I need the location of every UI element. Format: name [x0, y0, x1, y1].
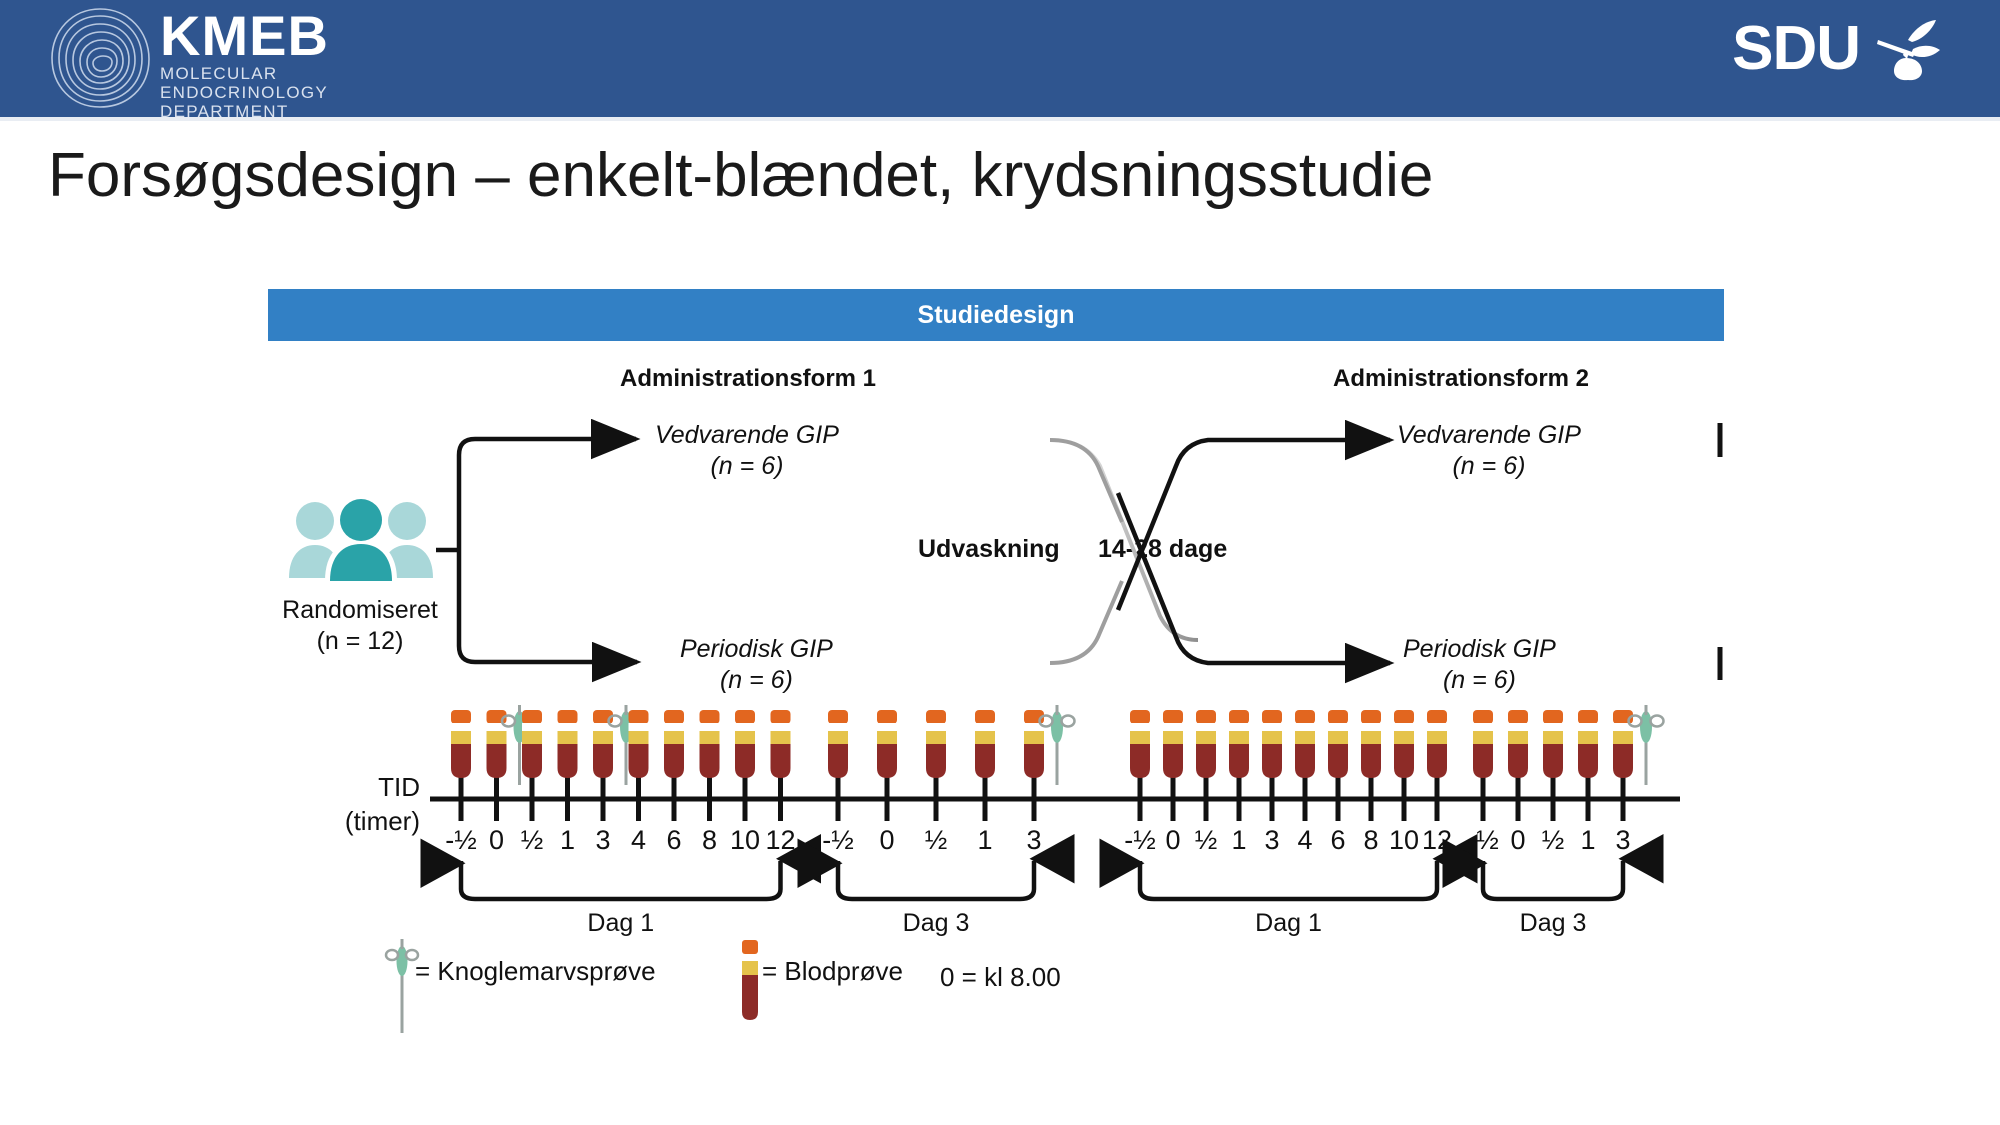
legend-zero-note: 0 = kl 8.00 — [940, 962, 1061, 993]
legend-marrow-icon — [386, 939, 418, 1033]
axis-tick-label: ½ — [925, 825, 948, 856]
blood-sample-icon — [1543, 710, 1563, 778]
bone-marrow-sample-icon — [1629, 705, 1664, 785]
axis-tick-label: 1 — [560, 825, 575, 856]
blood-sample-icon — [593, 710, 613, 778]
axis-tick-label: -½ — [822, 825, 854, 856]
blood-sample-icon — [1508, 710, 1528, 778]
blood-sample-icon — [828, 710, 848, 778]
header-underline — [0, 117, 2000, 121]
kmeb-title: KMEB — [160, 8, 329, 64]
page-title: Forsøgsdesign – enkelt-blændet, krydsnin… — [48, 140, 1433, 211]
sdu-apple-leaf-icon — [1868, 18, 1942, 82]
axis-tick-label: 3 — [1615, 825, 1630, 856]
blood-sample-icon — [1163, 710, 1183, 778]
blood-sample-icon — [1361, 710, 1381, 778]
axis-tick-label: ½ — [1195, 825, 1218, 856]
axis-tick-label: -½ — [445, 825, 477, 856]
day-label: Dag 1 — [1255, 909, 1322, 938]
day-bracket — [1140, 861, 1437, 899]
bone-marrow-sample-icon — [1040, 705, 1075, 785]
kmeb-subtitle-line2: ENDOCRINOLOGY — [160, 83, 329, 102]
day-label: Dag 3 — [1520, 909, 1587, 938]
axis-tick-label: 10 — [1389, 825, 1419, 856]
axis-tick-label: ½ — [1542, 825, 1565, 856]
day-bracket — [838, 861, 1034, 899]
blood-sample-icon — [1229, 710, 1249, 778]
axis-tick-label: ½ — [521, 825, 544, 856]
blood-sample-icon — [1295, 710, 1315, 778]
axis-tick-label: 0 — [1510, 825, 1525, 856]
blood-sample-icon — [1613, 710, 1633, 778]
sdu-wordmark: SDU — [1732, 18, 1860, 80]
blood-sample-icon — [629, 710, 649, 778]
blood-sample-icon — [664, 710, 684, 778]
day-brackets-layer — [461, 861, 1623, 899]
axis-tick-label: 8 — [1363, 825, 1378, 856]
legend-blood-label: = Blodprøve — [762, 956, 903, 987]
blood-sample-icon — [1328, 710, 1348, 778]
blood-sample-icon — [1473, 710, 1493, 778]
kmeb-logo-icon — [45, 6, 155, 110]
blood-sample-icon — [1130, 710, 1150, 778]
blood-sample-icon — [522, 710, 542, 778]
blood-sample-icon — [451, 710, 471, 778]
blood-sample-icon — [1024, 710, 1044, 778]
blood-sample-icon — [1578, 710, 1598, 778]
blood-sample-icon — [558, 710, 578, 778]
samples-layer — [451, 705, 1664, 821]
axis-tick-label: 3 — [595, 825, 610, 856]
day-bracket — [461, 861, 781, 899]
blood-sample-icon — [487, 710, 507, 778]
diagram-vector-layer — [0, 280, 2000, 1080]
axis-tick-label: 6 — [1330, 825, 1345, 856]
legend-blood-icon — [742, 940, 758, 1020]
axis-tick-label: 3 — [1264, 825, 1279, 856]
axis-tick-label: 8 — [702, 825, 717, 856]
blood-sample-icon — [1262, 710, 1282, 778]
blood-sample-icon — [771, 710, 791, 778]
axis-tick-label: 12 — [1422, 825, 1452, 856]
axis-tick-label: 0 — [1165, 825, 1180, 856]
day-bracket — [1483, 861, 1623, 899]
axis-tick-label: 0 — [879, 825, 894, 856]
axis-tick-label: 12 — [765, 825, 795, 856]
axis-tick-label: 4 — [631, 825, 646, 856]
axis-tick-label: 4 — [1297, 825, 1312, 856]
axis-tick-label: -½ — [1467, 825, 1499, 856]
blood-sample-icon — [1196, 710, 1216, 778]
day-label: Dag 1 — [587, 909, 654, 938]
kmeb-wordmark: KMEB MOLECULAR ENDOCRINOLOGY DEPARTMENT — [160, 8, 329, 121]
blood-sample-icon — [735, 710, 755, 778]
blood-sample-icon — [877, 710, 897, 778]
blood-sample-icon — [1427, 710, 1447, 778]
blood-sample-icon — [975, 710, 995, 778]
axis-tick-label: 3 — [1026, 825, 1041, 856]
axis-tick-label: 1 — [1580, 825, 1595, 856]
day-label: Dag 3 — [903, 909, 970, 938]
axis-tick-label: 0 — [489, 825, 504, 856]
axis-tick-label: 1 — [977, 825, 992, 856]
brand-header-bar: KMEB MOLECULAR ENDOCRINOLOGY DEPARTMENT … — [0, 0, 2000, 117]
legend-marrow-label: = Knoglemarvsprøve — [415, 956, 656, 987]
blood-sample-icon — [700, 710, 720, 778]
study-design-diagram: Studiedesign Administrationsform 1 Admin… — [0, 280, 2000, 1080]
axis-tick-label: 10 — [730, 825, 760, 856]
axis-tick-label: 6 — [666, 825, 681, 856]
blood-sample-icon — [926, 710, 946, 778]
axis-tick-label: 1 — [1231, 825, 1246, 856]
axis-tick-label: -½ — [1124, 825, 1156, 856]
blood-sample-icon — [1394, 710, 1414, 778]
sdu-logo: SDU — [1732, 16, 1942, 82]
